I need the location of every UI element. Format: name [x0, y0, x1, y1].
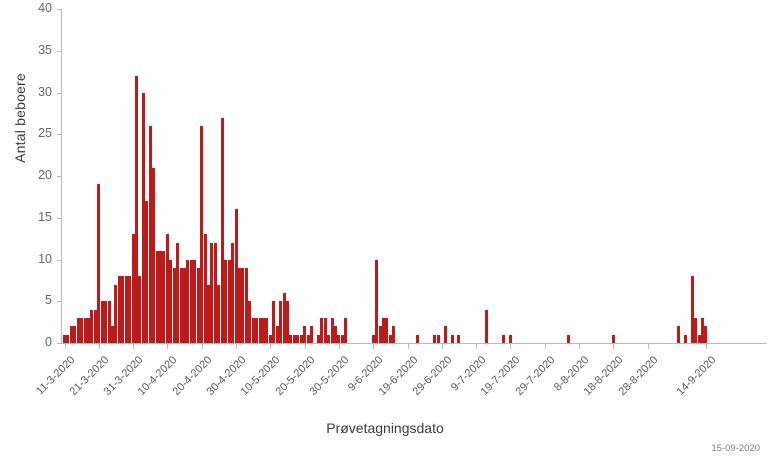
x-tick-mark	[545, 344, 546, 349]
bar	[344, 318, 347, 343]
x-tick-mark	[339, 344, 340, 349]
x-tick-mark	[305, 344, 306, 349]
bar	[437, 335, 440, 343]
x-tick-mark	[270, 344, 271, 349]
bar	[457, 335, 460, 343]
y-tick-mark	[57, 51, 62, 52]
bar	[392, 326, 395, 343]
bar	[677, 326, 680, 343]
bar	[451, 335, 454, 343]
x-axis-title: Prøvetagningsdato	[0, 420, 770, 436]
y-tick-mark	[57, 9, 62, 10]
x-tick-mark	[373, 344, 374, 349]
x-tick-mark	[613, 344, 614, 349]
y-tick-mark	[57, 218, 62, 219]
x-tick-mark	[99, 344, 100, 349]
y-tick-mark	[57, 134, 62, 135]
bar	[612, 335, 615, 343]
y-tick-mark	[57, 93, 62, 94]
bar	[485, 310, 488, 343]
bar	[444, 326, 447, 343]
x-tick-mark	[408, 344, 409, 349]
x-tick-mark	[65, 344, 66, 349]
x-tick-mark	[648, 344, 649, 349]
x-tick-mark	[202, 344, 203, 349]
bar	[310, 326, 313, 343]
bar	[567, 335, 570, 343]
bar-chart: Antal beboere 0510152025303540 Prøvetagn…	[0, 0, 770, 460]
x-tick-mark	[706, 344, 707, 349]
bar	[502, 335, 505, 343]
x-tick-mark	[236, 344, 237, 349]
x-tick-mark	[167, 344, 168, 349]
x-tick-mark	[133, 344, 134, 349]
y-tick-mark	[57, 176, 62, 177]
y-tick-mark	[57, 343, 62, 344]
x-tick-mark	[579, 344, 580, 349]
bar	[509, 335, 512, 343]
bar	[416, 335, 419, 343]
x-tick-mark	[510, 344, 511, 349]
generated-date-label: 15-09-2020	[711, 443, 760, 454]
y-tick-mark	[57, 260, 62, 261]
y-tick-mark	[57, 301, 62, 302]
bar	[684, 335, 687, 343]
x-tick-mark	[442, 344, 443, 349]
bar	[704, 326, 707, 343]
x-tick-mark	[476, 344, 477, 349]
